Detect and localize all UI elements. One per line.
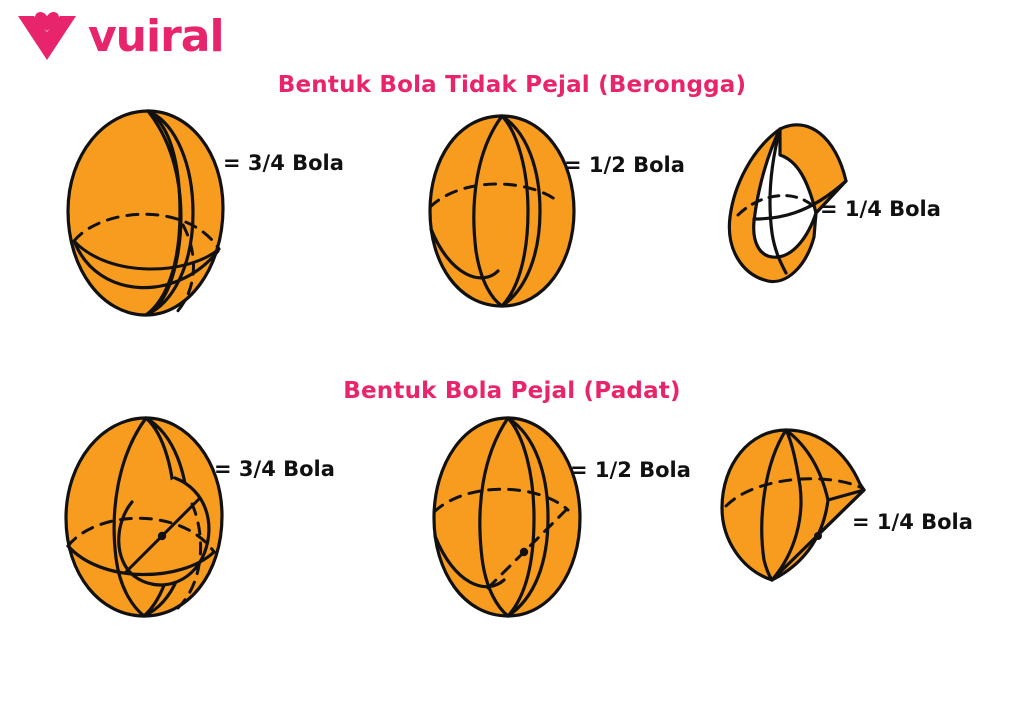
figure-hollow-quarter: = 1/4 Bola [712,107,872,292]
figure-solid-quarter: = 1/4 Bola [712,424,882,594]
sphere-three-quarter-solid-icon [54,412,244,622]
figure-solid-half: = 1/2 Bola [424,412,604,622]
section-heading-solid: Bentuk Bola Pejal (Padat) [0,378,1024,404]
sphere-half-solid-icon [424,412,604,622]
sphere-half-hollow-icon [424,111,589,311]
figure-hollow-half: = 1/2 Bola [424,111,589,311]
heart-shield-icon [16,10,78,64]
label-hollow-three-quarter: = 3/4 Bola [223,151,344,175]
figure-solid-three-quarter: = 3/4 Bola [54,412,244,622]
figure-hollow-three-quarter: = 3/4 Bola [58,103,238,323]
brand-logo: vuiral [16,10,224,64]
sphere-three-quarter-hollow-icon [58,103,238,323]
label-hollow-half: = 1/2 Bola [564,153,685,177]
brand-name: vuiral [88,15,224,59]
diagram-page: vuiral Bentuk Bola Tidak Pejal (Berongga… [0,0,1024,717]
sphere-quarter-solid-icon [712,424,882,594]
figure-row-solid: = 3/4 Bola [0,412,1024,662]
label-solid-quarter: = 1/4 Bola [852,510,973,534]
label-hollow-quarter: = 1/4 Bola [820,197,941,221]
label-solid-three-quarter: = 3/4 Bola [214,457,335,481]
label-solid-half: = 1/2 Bola [570,458,691,482]
section-heading-hollow: Bentuk Bola Tidak Pejal (Berongga) [0,72,1024,98]
figure-row-hollow: = 3/4 Bola = 1/2 Bola [0,103,1024,353]
